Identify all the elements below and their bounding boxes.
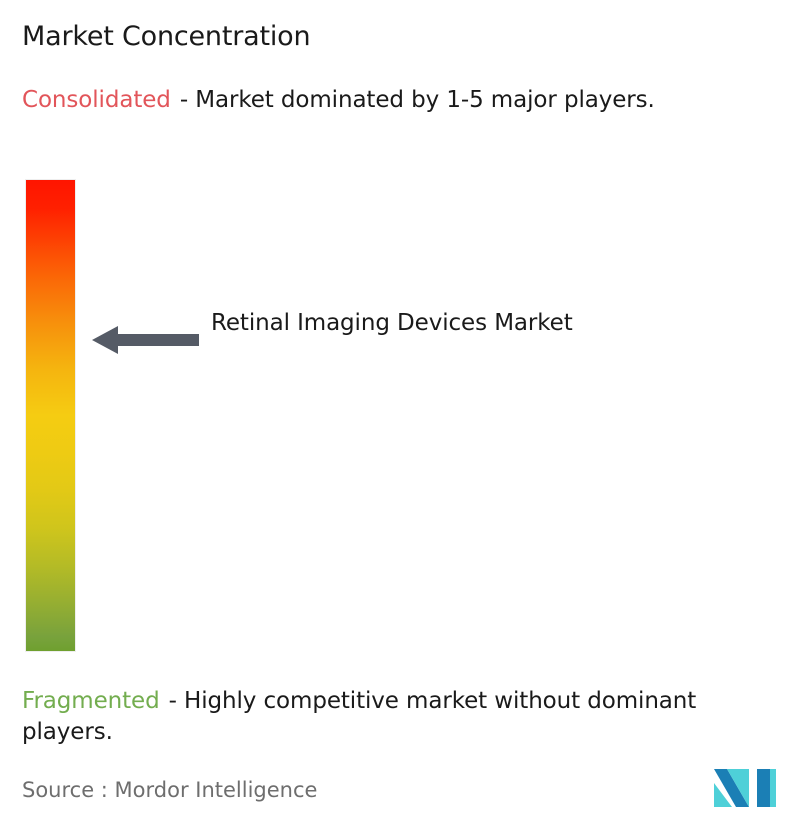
arrow-left-icon <box>92 324 199 356</box>
legend-consolidated: Consolidated- Market dominated by 1-5 ma… <box>22 85 774 116</box>
market-concentration-scale-bar <box>26 180 75 651</box>
page-title: Market Concentration <box>22 20 310 54</box>
legend-fragmented-term: Fragmented <box>22 688 160 714</box>
legend-consolidated-term: Consolidated <box>22 87 171 113</box>
market-position-pointer: Retinal Imaging Devices Market <box>92 306 652 378</box>
market-pointer-label: Retinal Imaging Devices Market <box>211 306 611 341</box>
legend-consolidated-description: - Market dominated by 1-5 major players. <box>180 87 655 113</box>
source-note: Source : Mordor Intelligence <box>22 776 317 804</box>
legend-fragmented: Fragmented- Highly competitive market wi… <box>22 686 782 748</box>
mordor-intelligence-logo <box>714 769 776 807</box>
